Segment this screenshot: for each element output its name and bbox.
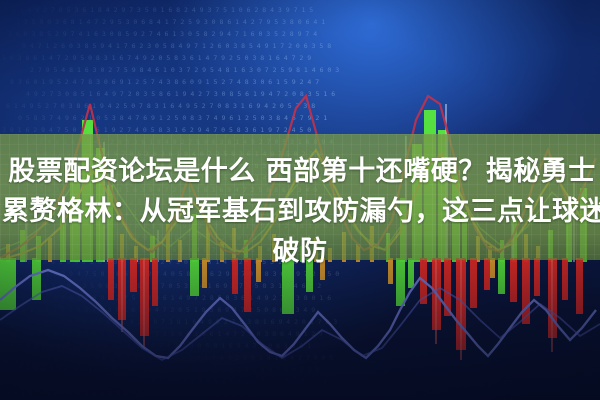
thumbnail-canvas: 3 8 1 4 9 2 7 0 5 3 6 1 8 4 2 9 7 3 5 0 … [0, 0, 600, 400]
headline-line-1: 股票配资论坛是什么 西部第十还嘴硬？揭秘勇士 [4, 152, 600, 192]
page-title: 股票配资论坛是什么 西部第十还嘴硬？揭秘勇士 累赘格林：从冠军基石到攻防漏勺，这… [0, 152, 600, 272]
headline-line-2: 累赘格林：从冠军基石到攻防漏勺，这三点让球迷破防 [2, 192, 600, 232]
headline-line-3: 破防 [0, 232, 600, 272]
